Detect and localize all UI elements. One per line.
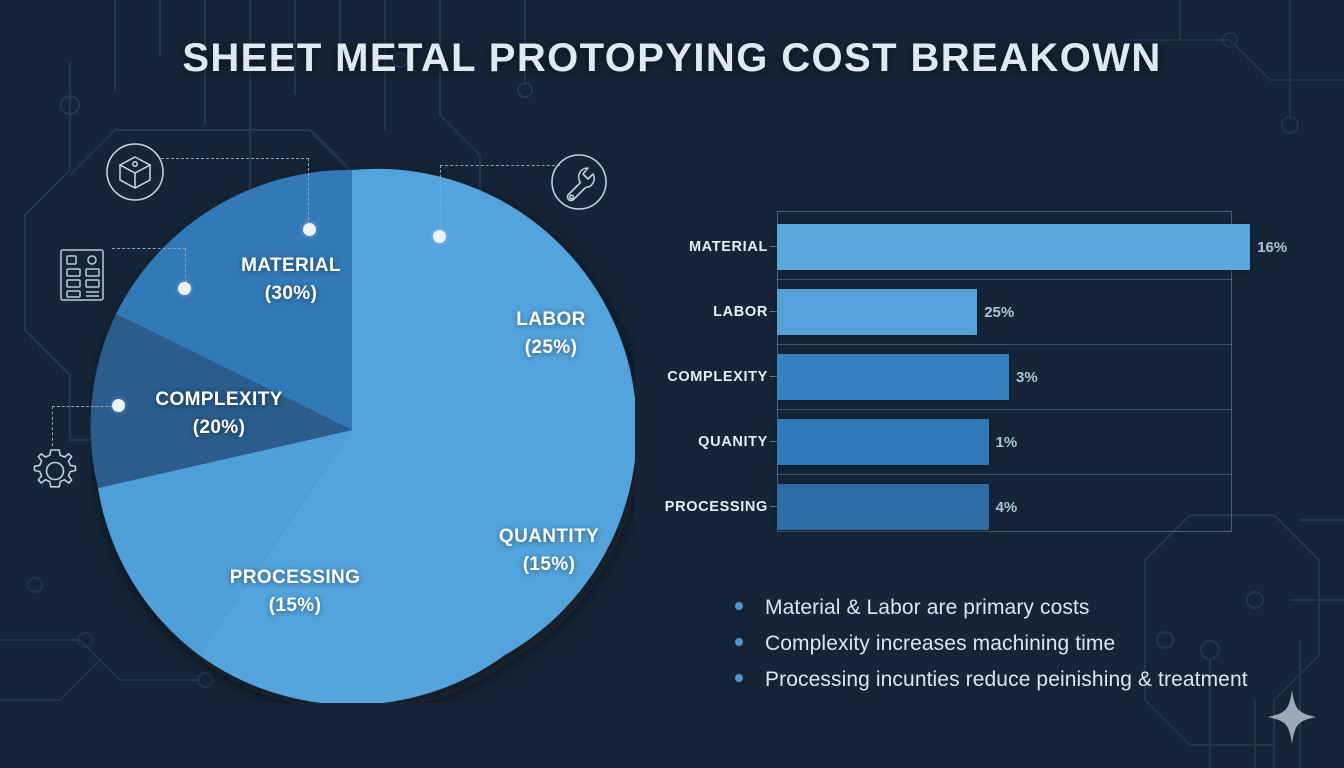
bar-track: 25% [777, 280, 1232, 344]
pie-label-quantity: QUANTITY (15%) [464, 523, 634, 578]
cube-icon [105, 142, 165, 202]
bar-track: 4% [777, 475, 1232, 539]
leader-dot-cube [303, 223, 316, 236]
bar-track: 3% [777, 345, 1232, 409]
leader-dot-wrench [433, 230, 446, 243]
bar-category-label: PROCESSING [636, 475, 768, 539]
bar-tick [770, 506, 777, 507]
bar-value-label: 16% [1250, 215, 1287, 279]
pie-label-complexity: COMPLEXITY (20%) [122, 386, 316, 441]
list-item: Processing incunties reduce peinishing &… [735, 668, 1335, 692]
leader-line-wrench [440, 165, 560, 166]
bar-chart: MATERIAL 16% LABOR 25% COMPLEXITY 3% [636, 207, 1296, 537]
sparkle-icon [1266, 688, 1318, 746]
bar-fill [777, 289, 977, 335]
bar-row: MATERIAL 16% [636, 215, 1296, 279]
list-item: Material & Labor are primary costs [735, 596, 1335, 620]
bullet-text: Material & Labor are primary costs [765, 596, 1090, 620]
bar-value-label: 1% [989, 410, 1018, 474]
leader-line-cube-h [161, 158, 309, 159]
slide-canvas: SHEET METAL PROTOPYING COST BREAKOWN [0, 0, 1344, 768]
wrench-icon [550, 153, 608, 211]
slide-title: SHEET METAL PROTOPYING COST BREAKOWN [0, 36, 1344, 81]
bar-category-label: QUANITY [636, 410, 768, 474]
bullet-dot-icon [735, 602, 743, 610]
pie-label-material: MATERIAL (30%) [206, 252, 376, 307]
leader-dot-gear [112, 399, 125, 412]
bar-tick [770, 246, 777, 247]
bar-category-label: MATERIAL [636, 215, 768, 279]
leader-line-list [112, 248, 186, 249]
bar-row: COMPLEXITY 3% [636, 345, 1296, 409]
bar-value-label: 4% [989, 475, 1018, 539]
bar-track: 1% [777, 410, 1232, 474]
bar-row: LABOR 25% [636, 280, 1296, 344]
bar-fill [777, 419, 989, 465]
bar-row: PROCESSING 4% [636, 475, 1296, 539]
gear-icon [28, 444, 82, 498]
bar-track: 16% [777, 215, 1232, 279]
bullet-dot-icon [735, 674, 743, 682]
leader-dot-list [178, 282, 191, 295]
bar-category-label: LABOR [636, 280, 768, 344]
bar-tick [770, 376, 777, 377]
insight-bullet-list: Material & Labor are primary costs Compl… [735, 596, 1335, 704]
leader-line-wrench-v [440, 165, 441, 232]
list-panel-icon [57, 247, 107, 303]
bar-fill [777, 224, 1250, 270]
bullet-text: Processing incunties reduce peinishing &… [765, 668, 1248, 692]
bar-tick [770, 311, 777, 312]
leader-line-gear-v [52, 406, 53, 446]
pie-label-processing: PROCESSING (15%) [198, 564, 392, 619]
bar-category-label: COMPLEXITY [636, 345, 768, 409]
pie-label-labor: LABOR (25%) [478, 306, 624, 361]
pie-chart: MATERIAL (30%) LABOR (25%) QUANTITY (15%… [90, 158, 635, 703]
bar-fill [777, 354, 1009, 400]
bar-fill [777, 484, 989, 530]
bullet-dot-icon [735, 638, 743, 646]
list-item: Complexity increases machining time [735, 632, 1335, 656]
bar-value-label: 3% [1009, 345, 1038, 409]
bar-tick [770, 441, 777, 442]
leader-line-cube [161, 158, 309, 230]
bar-row: QUANITY 1% [636, 410, 1296, 474]
bar-value-label: 25% [977, 280, 1014, 344]
bullet-text: Complexity increases machining time [765, 632, 1115, 656]
leader-line-gear [52, 406, 118, 407]
